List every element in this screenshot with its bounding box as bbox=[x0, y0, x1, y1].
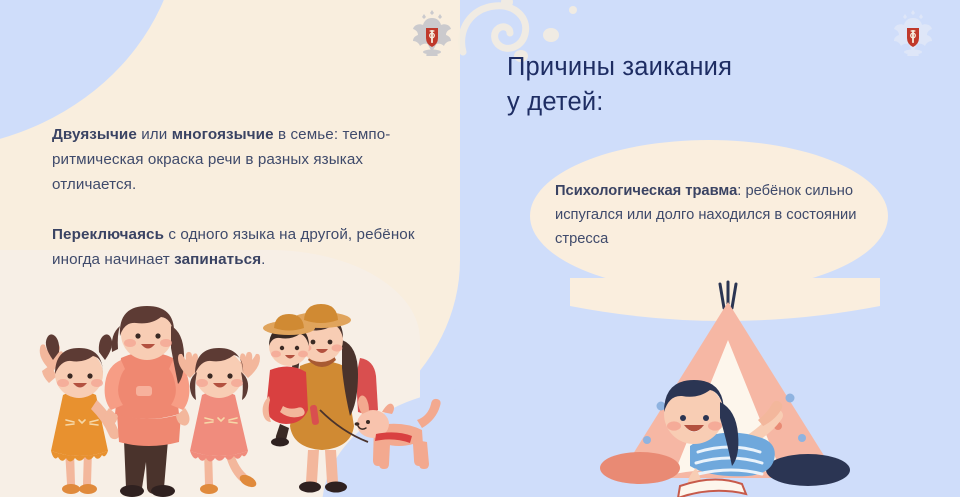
cushion-right bbox=[766, 454, 850, 486]
left-p1-bold-2: многоязычие bbox=[172, 126, 274, 143]
left-body-text: Двуязычие или многоязычие в семье: темпо… bbox=[52, 122, 442, 272]
left-p2-bold-1: Переключаясь bbox=[52, 226, 164, 243]
left-paragraph-2: Переключаясь с одного языка на другой, р… bbox=[52, 222, 442, 272]
mother-in-coral-shirt bbox=[105, 306, 190, 497]
mother-carrying-toddler-walking-dog bbox=[263, 304, 441, 493]
dog-on-leash bbox=[355, 396, 441, 470]
illustration-families bbox=[8, 300, 468, 497]
cushion-left bbox=[600, 452, 680, 484]
page-title: Причины заикания у детей: bbox=[507, 50, 887, 120]
left-p2-rest: . bbox=[261, 251, 265, 268]
left-p1-bold-1: Двуязычие bbox=[52, 126, 137, 143]
ministry-of-health-emblem-left bbox=[412, 8, 452, 56]
illustration-teepee-scene bbox=[570, 278, 880, 497]
page-title-line-2: у детей: bbox=[507, 85, 887, 120]
bubble-bold: Психологическая травма bbox=[555, 183, 737, 199]
left-p1-mid-1: или bbox=[137, 126, 172, 143]
page-title-line-1: Причины заикания bbox=[507, 50, 887, 85]
left-p2-bold-2: запинаться bbox=[174, 251, 261, 268]
ministry-of-health-emblem-right bbox=[893, 8, 933, 56]
girl-in-pink-dress bbox=[178, 348, 260, 494]
slide-canvas: Двуязычие или многоязычие в семье: темпо… bbox=[0, 0, 960, 497]
callout-bubble-text: Психологическая травма: ребёнок сильно и… bbox=[555, 179, 885, 251]
left-paragraph-1: Двуязычие или многоязычие в семье: темпо… bbox=[52, 122, 442, 197]
